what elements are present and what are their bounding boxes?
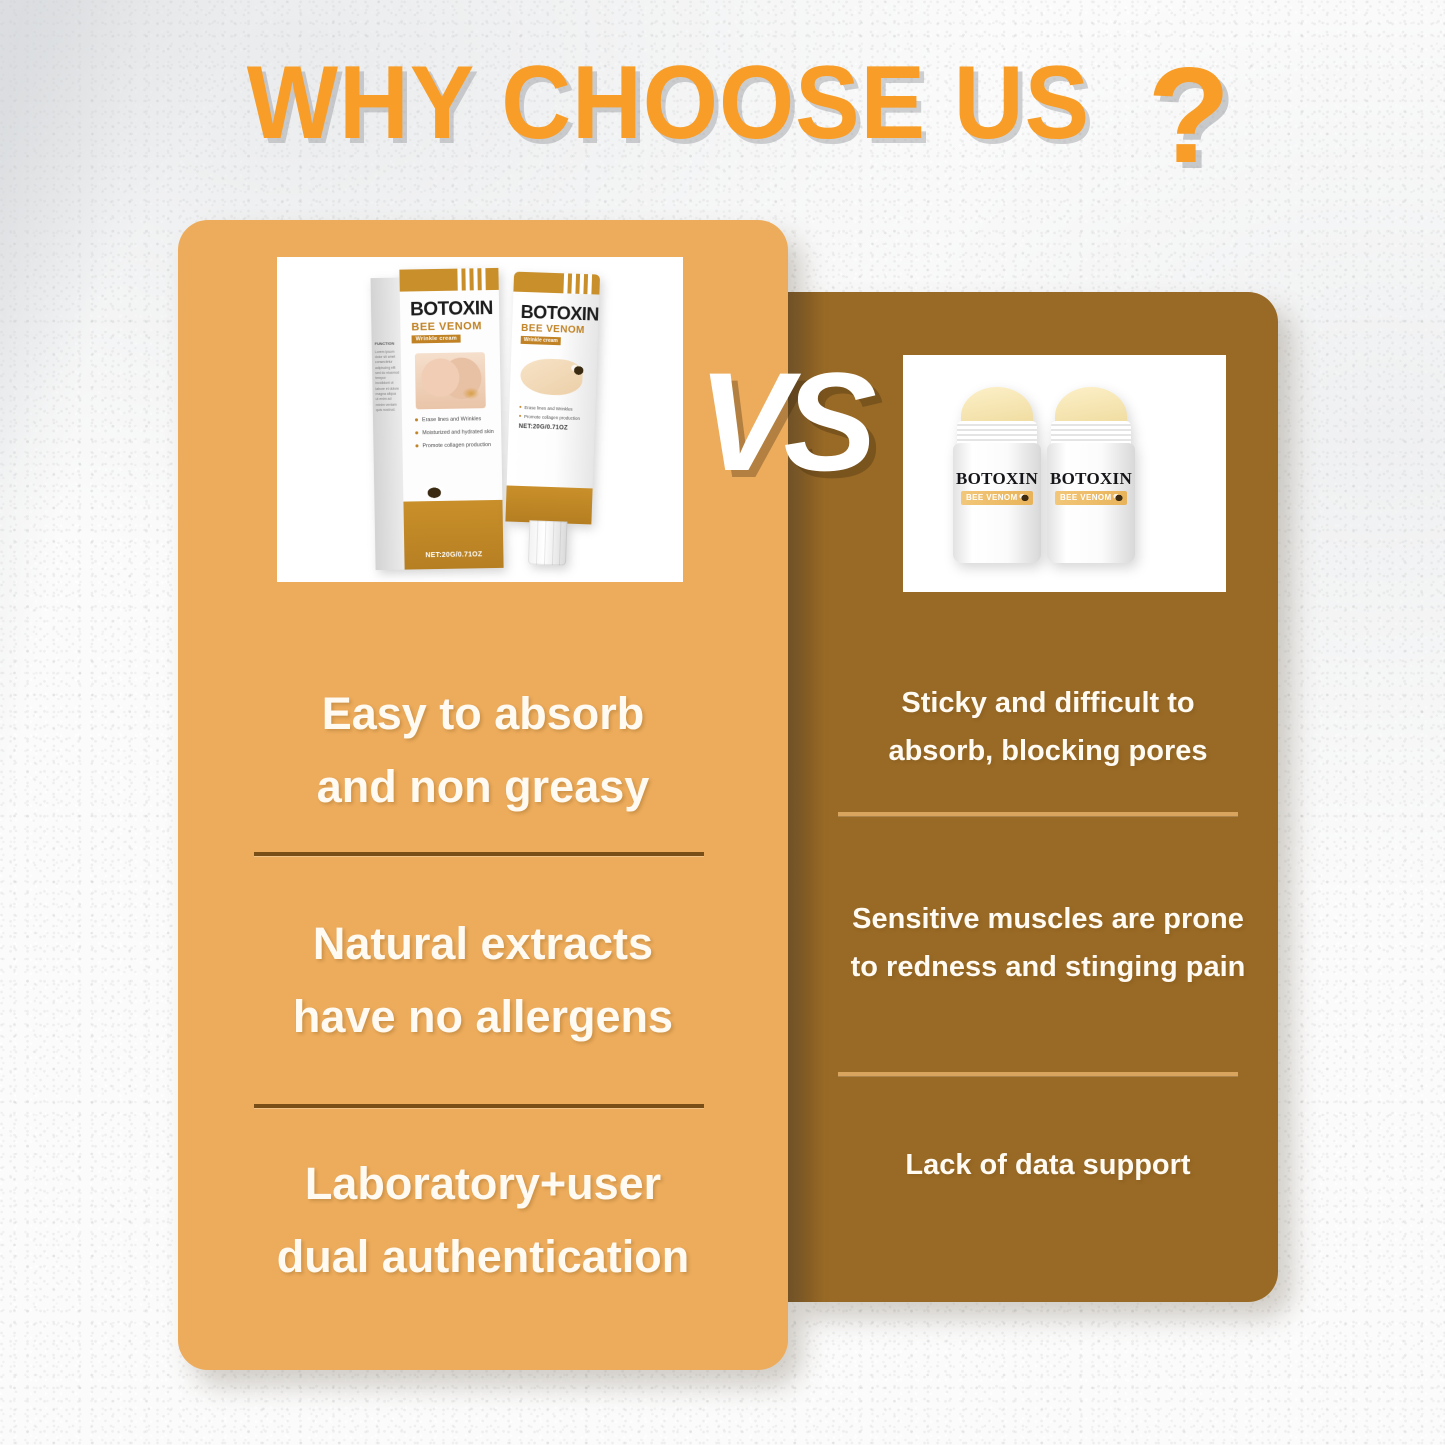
con-drawback-1: Sticky and difficult toabsorb, blocking … [836,680,1260,775]
con-drawback-3: Lack of data support [836,1142,1260,1190]
tube-brand: BOTOXIN [520,302,599,326]
pro-product-photo: BOTOXIN BEE VENOM Wrinkle cream Erase li… [277,257,683,582]
bee-icon [423,485,445,499]
carton-function-text: FUNCTION Lorem ipsum dolor sit amet cons… [375,342,400,413]
carton-bullet-list: Erase lines and Wrinkles Moisturized and… [415,415,498,456]
stick-label-band: BEE VENOM [1055,491,1127,505]
question-mark-icon: ? [1147,58,1230,174]
carton-bullet: Promote collagen production [415,441,497,451]
carton-bullet: Moisturized and hydrated skin [415,428,497,438]
pro-divider-2 [254,1104,704,1108]
stick-subtitle: BEE VENOM [1060,493,1112,502]
con-divider-1 [838,812,1238,816]
pro-feature-2: Natural extractshave no allergens [252,908,714,1054]
bee-icon [1019,493,1031,502]
tube-subtitle: BEE VENOM [521,323,585,336]
con-drawback-2: Sensitive muscles are proneto redness an… [836,896,1260,991]
stick-label-band: BEE VENOM [961,491,1033,505]
page-title-text: WHY CHOOSE US [246,44,1089,163]
cream-swatch [520,358,583,396]
carton-brand: BOTOXIN [410,298,493,321]
tube-tag: Wrinkle cream [521,336,561,345]
carton-model-image [415,352,486,409]
tube-bullet: Erase lines and Wrinkles [519,404,585,413]
tube-bullet: Promote collagen production [519,413,585,422]
tube-bottom-band [505,485,592,524]
carton-front-panel: BOTOXIN BEE VENOM Wrinkle cream Erase li… [399,268,503,570]
infographic-canvas: WHY CHOOSE US? BOTOXIN BEE VENOM Wrinkle… [0,0,1445,1445]
tube-cap [528,520,568,565]
comparison-cards: BOTOXIN BEE VENOM Wrinkle cream Erase li… [0,0,1445,1445]
pro-divider-1 [254,852,704,856]
carton-subtitle: BEE VENOM [411,320,482,333]
pro-feature-3: Laboratory+userdual authentication [252,1148,714,1294]
product-tube: BOTOXIN BEE VENOM Wrinkle cream Erase li… [504,272,600,567]
stick-brand: BOTOXIN [951,469,1043,489]
stick-subtitle: BEE VENOM [966,493,1018,502]
carton-bullet: Erase lines and Wrinkles [415,415,497,425]
con-product-photo: BOTOXIN BEE VENOM BOTOXIN BEE VENOM [903,355,1226,592]
product-stick: BOTOXIN BEE VENOM [1045,387,1137,563]
page-title: WHY CHOOSE US? [0,44,1445,163]
bee-icon [1113,493,1125,502]
tube-top-band [513,272,600,295]
carton-function-body: Lorem ipsum dolor sit amet consectetur a… [375,350,399,412]
carton-tag: Wrinkle cream [412,335,462,344]
con-divider-2 [838,1072,1238,1076]
tube-net-weight: NET:20G/0.71OZ [519,424,568,432]
product-carton: BOTOXIN BEE VENOM Wrinkle cream Erase li… [370,268,503,570]
tube-body: BOTOXIN BEE VENOM Wrinkle cream Erase li… [505,272,600,525]
tube-bullet-list: Erase lines and Wrinkles Promote collage… [519,404,586,424]
pro-feature-1: Easy to absorband non greasy [252,678,714,824]
carton-function-heading: FUNCTION [375,342,399,348]
product-stick: BOTOXIN BEE VENOM [951,387,1043,563]
carton-top-band [399,268,498,292]
stick-brand: BOTOXIN [1045,469,1137,489]
